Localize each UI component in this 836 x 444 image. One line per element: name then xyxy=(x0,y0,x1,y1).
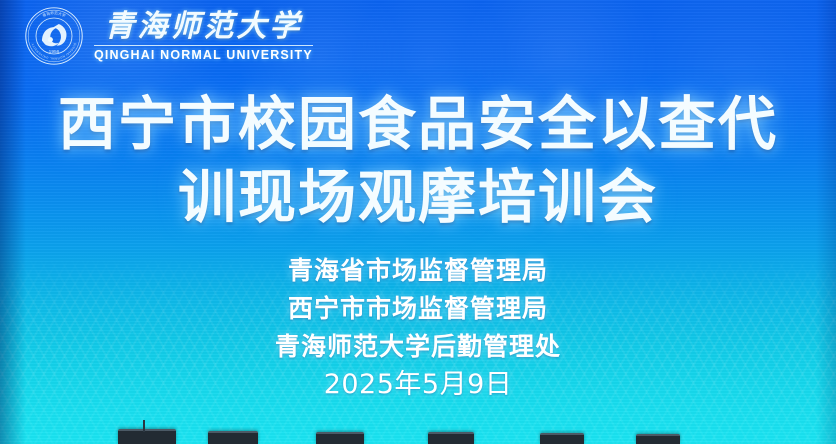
microphone-stalk xyxy=(143,420,145,432)
chair-silhouette xyxy=(428,432,474,444)
event-title-line-1: 西宁市校园食品安全以查代 xyxy=(0,88,836,161)
university-logo: 1956 青海师范大学 QINGHAI NORMAL UNIVERSITY 青海… xyxy=(24,6,313,66)
event-title: 西宁市校园食品安全以查代 训现场观摩培训会 xyxy=(0,88,836,234)
audience-chair-silhouettes xyxy=(0,422,836,444)
chair-silhouette xyxy=(540,433,584,444)
chair-silhouette xyxy=(118,429,176,444)
wordmark-divider xyxy=(94,45,313,46)
conference-backdrop-stage: 1956 青海师范大学 QINGHAI NORMAL UNIVERSITY 青海… xyxy=(0,0,836,444)
organizer-line-3: 青海师范大学后勤管理处 xyxy=(0,328,836,366)
organizers-block: 青海省市场监督管理局 西宁市市场监督管理局 青海师范大学后勤管理处 2025年5… xyxy=(0,252,836,404)
chair-silhouette xyxy=(636,434,680,444)
svg-text:1956: 1956 xyxy=(49,49,60,55)
organizer-line-2: 西宁市市场监督管理局 xyxy=(0,290,836,328)
university-wordmark: 青海师范大学 QINGHAI NORMAL UNIVERSITY xyxy=(94,12,313,62)
university-name-cn: 青海师范大学 xyxy=(104,12,302,43)
chair-silhouette xyxy=(208,431,258,444)
university-name-en: QINGHAI NORMAL UNIVERSITY xyxy=(94,48,313,62)
event-title-line-2: 训现场观摩培训会 xyxy=(0,161,836,234)
university-seal-icon: 1956 青海师范大学 QINGHAI NORMAL UNIVERSITY xyxy=(24,6,84,66)
organizer-line-1: 青海省市场监督管理局 xyxy=(0,252,836,290)
chair-silhouette xyxy=(316,432,364,444)
event-date: 2025年5月9日 xyxy=(0,366,836,404)
